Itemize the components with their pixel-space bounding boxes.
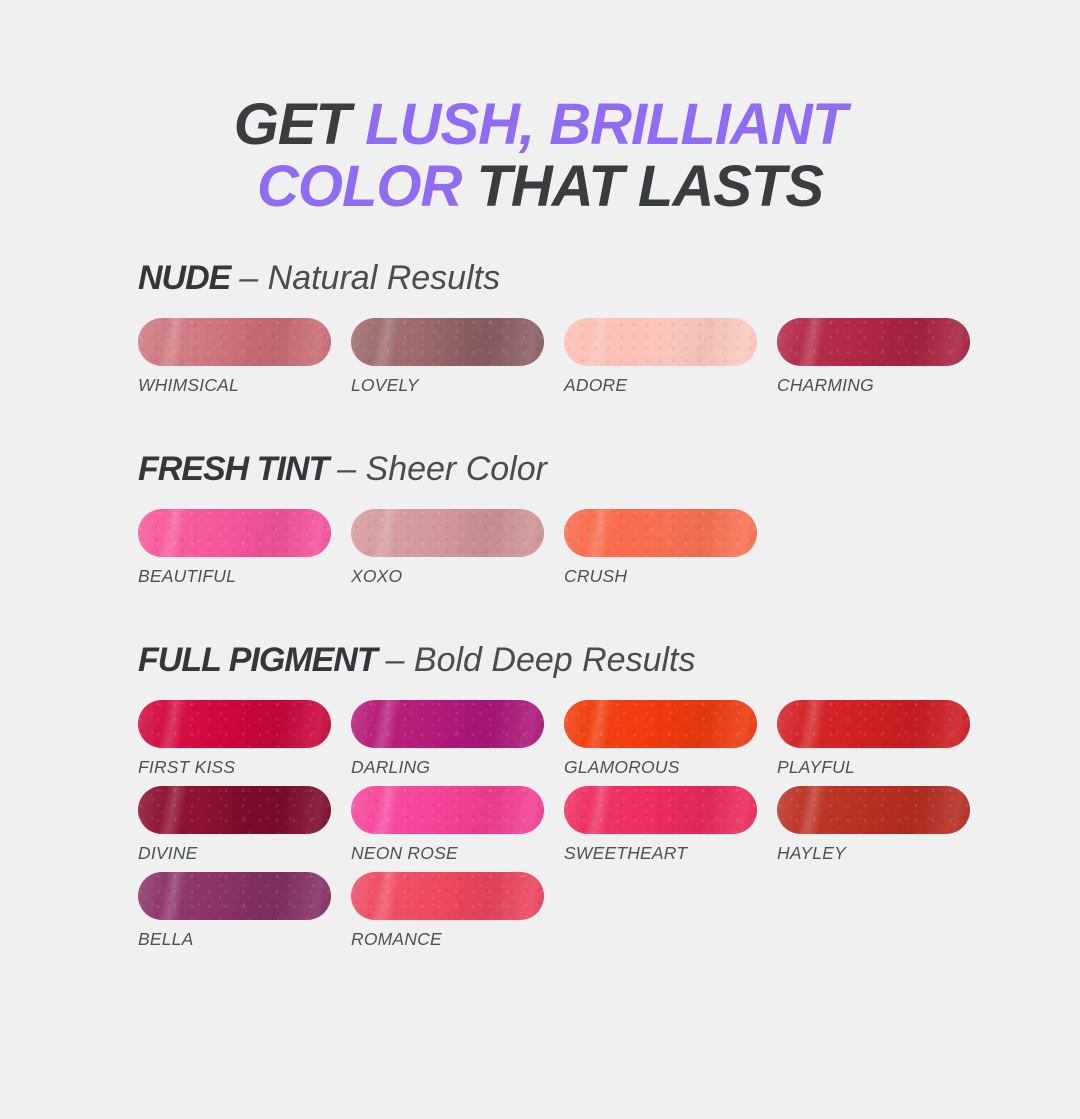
- shade-chart-page: GET LUSH, BRILLIANT COLOR THAT LASTS NUD…: [0, 39, 1080, 1119]
- swatch-texture-overlay: [351, 318, 544, 366]
- swatch-texture-overlay: [138, 318, 331, 366]
- swatch-texture-overlay: [777, 318, 970, 366]
- swatch-label: CRUSH: [564, 566, 757, 587]
- swatch-cell[interactable]: DIVINE: [118, 786, 331, 864]
- color-swatch[interactable]: [351, 872, 544, 920]
- swatch-label: SWEETHEART: [564, 843, 757, 864]
- swatch-cell[interactable]: ROMANCE: [331, 872, 544, 950]
- swatch-sheen-overlay: [564, 318, 757, 366]
- swatch-cell[interactable]: FIRST KISS: [118, 700, 331, 778]
- swatch-cell[interactable]: SWEETHEART: [544, 786, 757, 864]
- section-name: FULL PIGMENT: [138, 641, 377, 679]
- swatch-cell[interactable]: LOVELY: [331, 318, 544, 396]
- swatch-texture-overlay: [351, 786, 544, 834]
- swatch-cell[interactable]: BELLA: [118, 872, 331, 950]
- swatch-label: HAYLEY: [777, 843, 970, 864]
- section-name: NUDE: [138, 259, 230, 297]
- color-swatch[interactable]: [138, 872, 331, 920]
- swatch-row: BELLA ROMANCE: [118, 872, 1020, 958]
- swatch-sheen-overlay: [138, 786, 331, 834]
- swatch-cell[interactable]: HAYLEY: [757, 786, 970, 864]
- swatch-label: ADORE: [564, 375, 757, 396]
- swatch-row: FIRST KISS DARLING GLAMOROUS PLAYFUL: [118, 700, 1020, 786]
- color-swatch[interactable]: [777, 318, 970, 366]
- swatch-label: DARLING: [351, 757, 544, 778]
- page-title: GET LUSH, BRILLIANT COLOR THAT LASTS: [0, 39, 1080, 219]
- swatch-texture-overlay: [138, 700, 331, 748]
- shade-sections: NUDE – Natural Results WHIMSICAL LOVELY: [0, 259, 1080, 958]
- color-swatch[interactable]: [351, 509, 544, 557]
- swatch-grid: WHIMSICAL LOVELY ADORE CHARMING: [138, 318, 1020, 404]
- section-heading: NUDE – Natural Results: [138, 259, 1020, 298]
- section-heading: FRESH TINT – Sheer Color: [138, 450, 1020, 489]
- swatch-label: GLAMOROUS: [564, 757, 757, 778]
- swatch-cell[interactable]: BEAUTIFUL: [118, 509, 331, 587]
- swatch-grid: FIRST KISS DARLING GLAMOROUS PLAYFUL: [138, 700, 1020, 958]
- swatch-cell[interactable]: CHARMING: [757, 318, 970, 396]
- color-swatch[interactable]: [138, 700, 331, 748]
- swatch-sheen-overlay: [777, 318, 970, 366]
- swatch-sheen-overlay: [564, 786, 757, 834]
- color-swatch[interactable]: [564, 786, 757, 834]
- swatch-texture-overlay: [564, 786, 757, 834]
- swatch-cell[interactable]: DARLING: [331, 700, 544, 778]
- swatch-cell[interactable]: CRUSH: [544, 509, 757, 587]
- swatch-row: BEAUTIFUL XOXO CRUSH: [118, 509, 1020, 595]
- swatch-sheen-overlay: [351, 509, 544, 557]
- headline-segment-lush-brilliant: LUSH, BRILLIANT: [365, 92, 846, 157]
- swatch-texture-overlay: [138, 872, 331, 920]
- swatch-sheen-overlay: [564, 700, 757, 748]
- color-swatch[interactable]: [351, 786, 544, 834]
- section-nude: NUDE – Natural Results WHIMSICAL LOVELY: [0, 259, 1080, 404]
- color-swatch[interactable]: [564, 318, 757, 366]
- color-swatch[interactable]: [138, 786, 331, 834]
- swatch-label: ROMANCE: [351, 929, 544, 950]
- swatch-cell[interactable]: WHIMSICAL: [118, 318, 331, 396]
- headline-line-1: GET LUSH, BRILLIANT: [0, 94, 1080, 157]
- swatch-texture-overlay: [351, 700, 544, 748]
- color-swatch[interactable]: [564, 700, 757, 748]
- swatch-sheen-overlay: [351, 700, 544, 748]
- swatch-cell[interactable]: GLAMOROUS: [544, 700, 757, 778]
- swatch-texture-overlay: [138, 786, 331, 834]
- swatch-texture-overlay: [564, 318, 757, 366]
- swatch-sheen-overlay: [777, 786, 970, 834]
- headline-segment-get: GET: [234, 92, 365, 157]
- swatch-sheen-overlay: [351, 786, 544, 834]
- section-description: – Sheer Color: [337, 450, 547, 488]
- headline-segment-that-lasts: THAT LASTS: [461, 154, 823, 219]
- swatch-label: CHARMING: [777, 375, 970, 396]
- swatch-sheen-overlay: [138, 318, 331, 366]
- swatch-sheen-overlay: [564, 509, 757, 557]
- swatch-texture-overlay: [351, 509, 544, 557]
- swatch-row: DIVINE NEON ROSE SWEETHEART HAYLEY: [118, 786, 1020, 872]
- swatch-label: PLAYFUL: [777, 757, 970, 778]
- swatch-texture-overlay: [351, 872, 544, 920]
- swatch-cell[interactable]: ADORE: [544, 318, 757, 396]
- section-heading: FULL PIGMENT – Bold Deep Results: [138, 641, 1020, 680]
- swatch-label: LOVELY: [351, 375, 544, 396]
- color-swatch[interactable]: [564, 509, 757, 557]
- swatch-cell[interactable]: XOXO: [331, 509, 544, 587]
- color-swatch[interactable]: [351, 700, 544, 748]
- swatch-sheen-overlay: [138, 700, 331, 748]
- swatch-sheen-overlay: [351, 872, 544, 920]
- swatch-label: DIVINE: [138, 843, 331, 864]
- swatch-sheen-overlay: [777, 700, 970, 748]
- swatch-label: BEAUTIFUL: [138, 566, 331, 587]
- swatch-texture-overlay: [777, 786, 970, 834]
- swatch-texture-overlay: [138, 509, 331, 557]
- swatch-row: WHIMSICAL LOVELY ADORE CHARMING: [118, 318, 1020, 404]
- swatch-label: WHIMSICAL: [138, 375, 331, 396]
- color-swatch[interactable]: [138, 318, 331, 366]
- swatch-sheen-overlay: [138, 872, 331, 920]
- headline-line-2: COLOR THAT LASTS: [0, 156, 1080, 219]
- swatch-label: BELLA: [138, 929, 331, 950]
- section-description: – Natural Results: [239, 259, 500, 297]
- section-description: – Bold Deep Results: [386, 641, 696, 679]
- color-swatch[interactable]: [777, 700, 970, 748]
- swatch-texture-overlay: [777, 700, 970, 748]
- color-swatch[interactable]: [351, 318, 544, 366]
- swatch-grid: BEAUTIFUL XOXO CRUSH: [138, 509, 1020, 595]
- swatch-label: NEON ROSE: [351, 843, 544, 864]
- section-full-pigment: FULL PIGMENT – Bold Deep Results FIRST K…: [0, 641, 1080, 958]
- section-name: FRESH TINT: [138, 450, 328, 488]
- swatch-cell[interactable]: NEON ROSE: [331, 786, 544, 864]
- swatch-texture-overlay: [564, 700, 757, 748]
- swatch-sheen-overlay: [351, 318, 544, 366]
- color-swatch[interactable]: [138, 509, 331, 557]
- swatch-label: FIRST KISS: [138, 757, 331, 778]
- swatch-cell[interactable]: PLAYFUL: [757, 700, 970, 778]
- color-swatch[interactable]: [777, 786, 970, 834]
- swatch-texture-overlay: [564, 509, 757, 557]
- swatch-label: XOXO: [351, 566, 544, 587]
- section-fresh-tint: FRESH TINT – Sheer Color BEAUTIFUL XOXO: [0, 450, 1080, 595]
- headline-segment-color: COLOR: [257, 154, 461, 219]
- swatch-sheen-overlay: [138, 509, 331, 557]
